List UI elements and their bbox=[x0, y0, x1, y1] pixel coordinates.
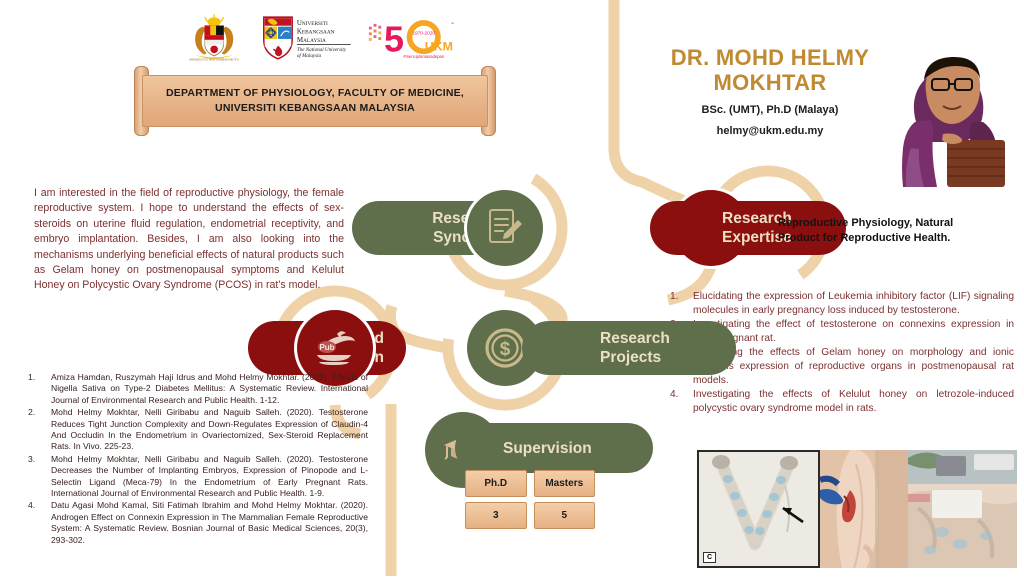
profile-qualifications: BSc. (UMT), Ph.D (Malaya) bbox=[640, 104, 900, 116]
item-text: Mohd Helmy Mokhtar, Nelli Giribabu and N… bbox=[51, 454, 368, 498]
surgery-image-1 bbox=[820, 450, 908, 568]
malaysia-coat-of-arms-logo: BERSEKUTU BERTAMBAH MUTU bbox=[182, 12, 246, 64]
item-number: 4. bbox=[670, 388, 679, 402]
item-text: Investigating the effects of Kelulut hon… bbox=[693, 389, 1014, 414]
supervision-header-row: Ph.D Masters bbox=[465, 470, 595, 497]
item-text: Amiza Hamdan, Ruszymah Haji Idrus and Mo… bbox=[51, 372, 368, 405]
svg-text:5: 5 bbox=[384, 18, 403, 59]
uterus-specimen-image bbox=[699, 452, 818, 566]
svg-text:™: ™ bbox=[450, 22, 454, 26]
supervision-value-masters: 5 bbox=[534, 502, 596, 529]
research-project-item: 1.Elucidating the expression of Leukemia… bbox=[668, 290, 1014, 317]
profile-name-block: DR. MOHD HELMY MOKHTAR BSc. (UMT), Ph.D … bbox=[640, 45, 900, 137]
svg-text:BERSEKUTU BERTAMBAH MUTU: BERSEKUTU BERTAMBAH MUTU bbox=[189, 58, 239, 62]
item-number: 3. bbox=[28, 454, 35, 465]
research-project-item: 4.Investigating the effects of Kelulut h… bbox=[668, 388, 1014, 415]
research-projects-label-1: Research bbox=[600, 330, 670, 347]
item-number: 1. bbox=[670, 290, 679, 304]
item-number: 4. bbox=[28, 500, 35, 511]
crest-sub2: of Malaysia bbox=[297, 52, 322, 59]
research-projects-pill[interactable]: Research Projects bbox=[522, 321, 736, 375]
supervision-value-phd: 3 bbox=[465, 502, 527, 529]
supervision-header-phd: Ph.D bbox=[465, 470, 527, 497]
ukm-crest-logo: UNIVERSITI KEBANGSAAN MALAYSIA The Natio… bbox=[260, 12, 353, 64]
photo-label-c: C bbox=[703, 552, 716, 563]
uterus-specimen-photo: C bbox=[697, 450, 820, 568]
lab-photo-strip: C bbox=[697, 450, 1017, 568]
item-text: Elucidating the effects of Gelam honey o… bbox=[693, 347, 1014, 385]
pubmed-label: Pub bbox=[319, 343, 334, 352]
publication-item: 2.Mohd Helmy Mokhtar, Nelli Giribabu and… bbox=[26, 407, 368, 453]
publication-item: 3.Mohd Helmy Mokhtar, Nelli Giribabu and… bbox=[26, 454, 368, 500]
publication-item: 4.Datu Agasi Mohd Kamal, Siti Fatimah Ib… bbox=[26, 500, 368, 546]
research-synopsis-body: I am interested in the field of reproduc… bbox=[34, 186, 344, 294]
surgery-image-2 bbox=[908, 450, 1017, 568]
crest-line2: KEBANGSAAN bbox=[297, 27, 335, 35]
banner-line-1: DEPARTMENT OF PHYSIOLOGY, FACULTY OF MED… bbox=[166, 86, 464, 101]
poster-canvas: BERSEKUTU BERTAMBAH MUTU UNIVERS bbox=[0, 0, 1024, 576]
item-number: 1. bbox=[28, 372, 35, 383]
banner-line-2: UNIVERSITI KEBANGSAAN MALAYSIA bbox=[215, 101, 415, 116]
crest-line1: UNIVERSITI bbox=[297, 19, 328, 27]
logo-row: BERSEKUTU BERTAMBAH MUTU UNIVERS bbox=[182, 8, 454, 64]
expertise-line-2: Product for Reproductive Health. bbox=[778, 231, 1008, 246]
anniversary-mark: UKM bbox=[425, 39, 453, 53]
supervision-table: Ph.D Masters 3 5 bbox=[465, 470, 595, 534]
profile-email: helmy@ukm.edu.my bbox=[640, 125, 900, 137]
profile-name-line2: MOKHTAR bbox=[640, 70, 900, 95]
surgery-photo-1 bbox=[820, 450, 908, 568]
ukm-50-anniversary-logo: 5 1970-2020 UKM #menciptamasadepan ™ bbox=[367, 14, 454, 64]
research-synopsis-icon-circle[interactable] bbox=[467, 190, 543, 266]
item-text: Elucidating the expression of Leukemia i… bbox=[693, 291, 1014, 316]
publication-item: 1.Amiza Hamdan, Ruszymah Haji Idrus and … bbox=[26, 372, 368, 406]
crest-line3: MALAYSIA bbox=[297, 36, 326, 44]
item-text: Mohd Helmy Mokhtar, Nelli Giribabu and N… bbox=[51, 407, 368, 451]
profile-name-line1: DR. MOHD HELMY bbox=[640, 45, 900, 70]
item-text: Datu Agasi Mohd Kamal, Siti Fatimah Ibra… bbox=[51, 500, 368, 544]
selected-publication-list: 1.Amiza Hamdan, Ruszymah Haji Idrus and … bbox=[26, 372, 368, 547]
item-number: 2. bbox=[28, 407, 35, 418]
supervision-label: Supervision bbox=[503, 439, 592, 458]
dollar-glyph: $ bbox=[500, 339, 511, 360]
surgery-photo-2 bbox=[908, 450, 1017, 568]
pubmed-icon: Pub bbox=[313, 328, 357, 368]
department-banner: DEPARTMENT OF PHYSIOLOGY, FACULTY OF MED… bbox=[130, 75, 500, 125]
item-text: Investigating the effect of testosterone… bbox=[693, 319, 1014, 344]
banner-body: DEPARTMENT OF PHYSIOLOGY, FACULTY OF MED… bbox=[142, 75, 488, 127]
anniversary-years: 1970-2020 bbox=[412, 30, 435, 36]
anniversary-tagline: #menciptamasadepan bbox=[403, 54, 445, 59]
research-expertise-body: Reproductive Physiology, Natural Product… bbox=[778, 216, 1008, 246]
supervision-pill[interactable]: Supervision bbox=[455, 423, 653, 473]
dollar-coin-icon: $ bbox=[484, 327, 526, 369]
supervision-value-row: 3 5 bbox=[465, 502, 595, 529]
research-projects-label-2: Projects bbox=[600, 349, 661, 366]
expertise-line-1: Reproductive Physiology, Natural bbox=[778, 216, 1008, 231]
supervision-header-masters: Masters bbox=[534, 470, 596, 497]
document-pencil-icon bbox=[485, 207, 525, 249]
profile-portrait-photo bbox=[893, 22, 1011, 187]
